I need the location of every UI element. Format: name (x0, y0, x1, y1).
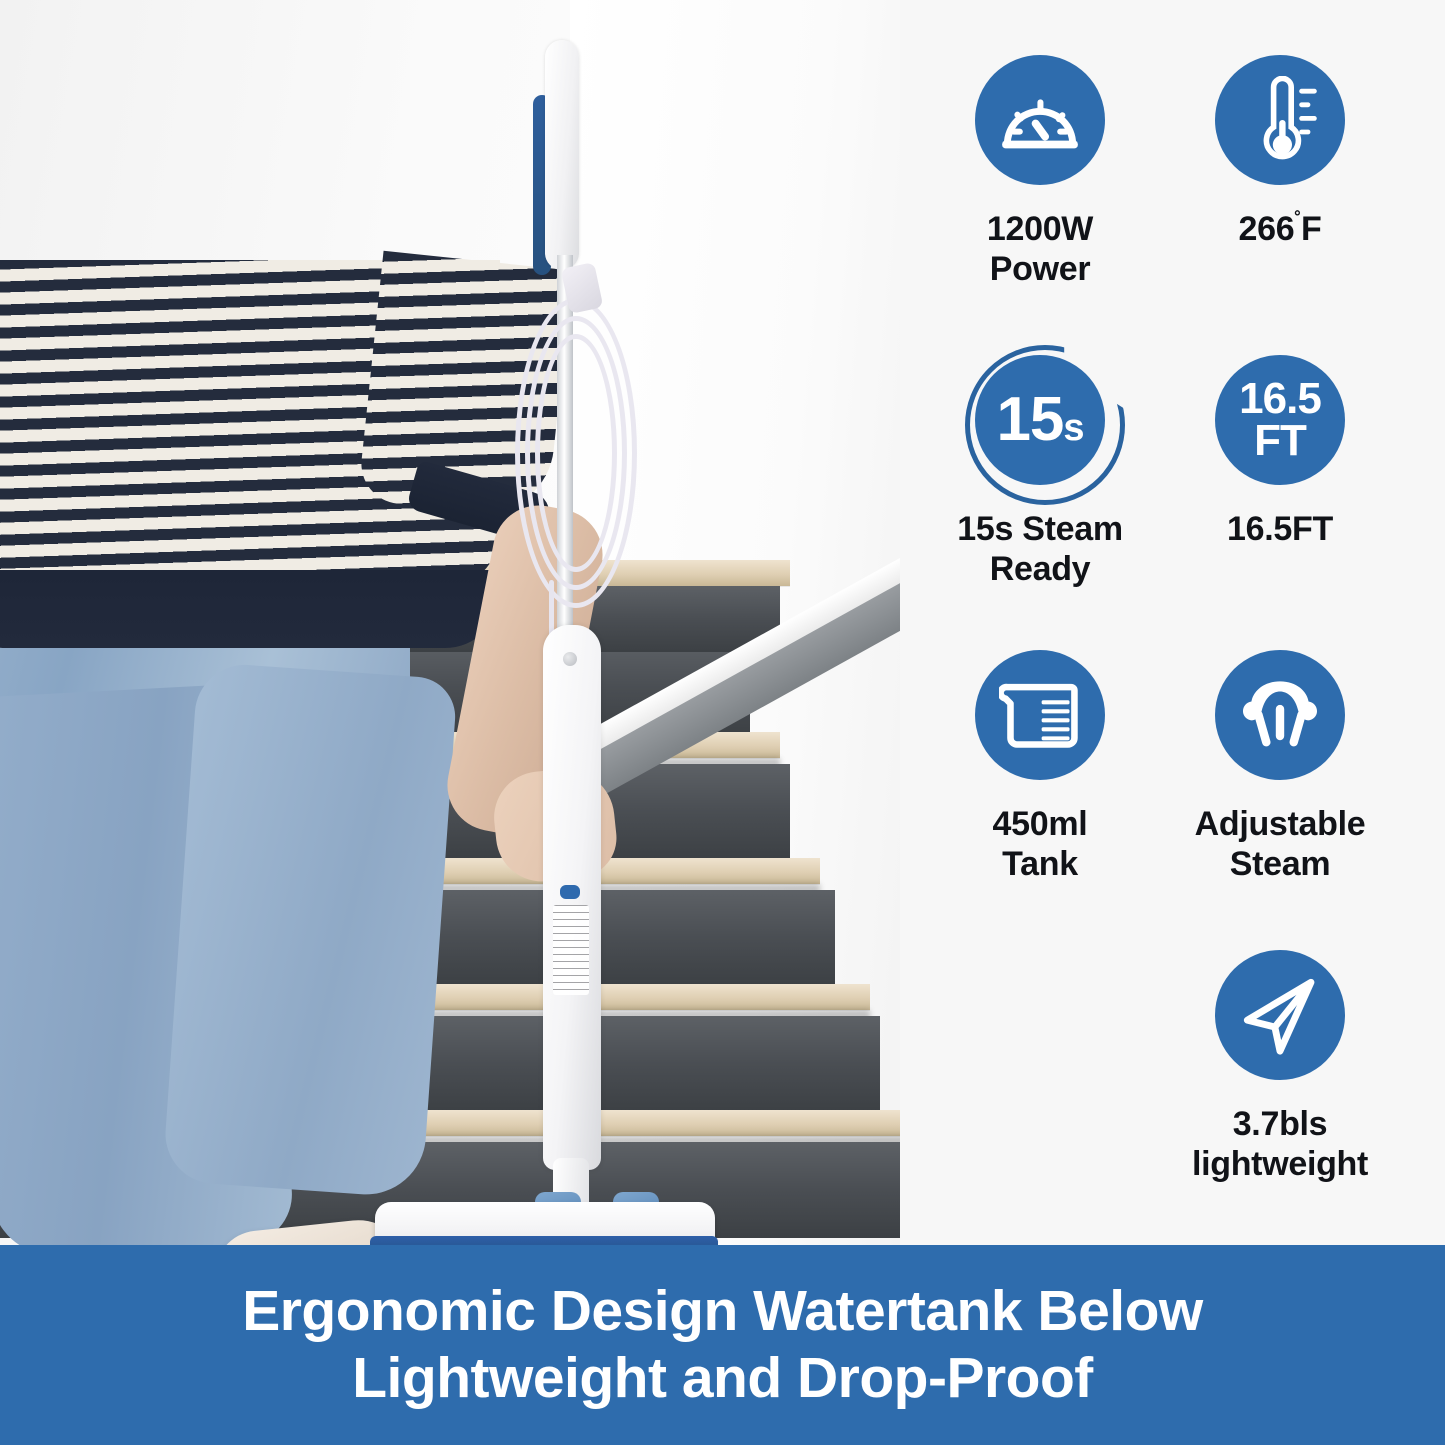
thermometer-icon (1205, 45, 1355, 195)
feature-label: Adjustable Steam (1165, 804, 1395, 884)
bottom-banner: Ergonomic Design Watertank Below Lightwe… (0, 1245, 1445, 1445)
feature-cord-length: 16.5 FT 16.5FT (1165, 345, 1395, 549)
timer-icon-text: 15s (996, 391, 1083, 450)
product-feature-page: 1200W Power (0, 0, 1445, 1445)
banner-line-2: Lightweight and Drop-Proof (352, 1345, 1093, 1412)
feature-tank: 450ml Tank (925, 640, 1155, 884)
steam-burst-icon-glyph (1236, 673, 1324, 757)
mop-screw (563, 652, 577, 666)
cord-length-icon: 16.5 FT (1205, 345, 1355, 495)
feature-grid: 1200W Power (900, 0, 1445, 1245)
person (0, 270, 470, 1245)
jeans-right-leg (162, 662, 458, 1199)
feature-label: 3.7bls lightweight (1165, 1104, 1395, 1184)
mop-pad (370, 1236, 718, 1245)
product-lifestyle-photo (0, 0, 900, 1245)
paper-plane-icon-glyph (1237, 972, 1323, 1058)
banner-line-1: Ergonomic Design Watertank Below (242, 1278, 1203, 1345)
feature-label: 16.5FT (1165, 509, 1395, 549)
beaker-icon-glyph (999, 675, 1081, 755)
timer-15s-icon: 15s (965, 345, 1115, 495)
feature-label: 450ml Tank (925, 804, 1155, 884)
thermometer-icon-glyph (1240, 76, 1320, 164)
gauge-icon (965, 45, 1115, 195)
steam-mop (505, 40, 685, 1245)
steam-burst-icon (1205, 640, 1355, 790)
mop-handle (545, 40, 579, 270)
cord-length-icon-text: 16.5 FT (1239, 378, 1321, 462)
feature-temperature: 266˚F (1165, 45, 1395, 249)
feature-steam-ready: 15s 15s Steam Ready (925, 345, 1155, 589)
shirt-hem (0, 570, 500, 648)
paper-plane-icon (1205, 940, 1355, 1090)
mop-steam-button (560, 885, 580, 899)
feature-adjustable-steam: Adjustable Steam (1165, 640, 1395, 884)
feature-weight: 3.7bls lightweight (1165, 940, 1395, 1184)
power-cord-coil (535, 334, 617, 572)
gauge-icon-glyph (997, 77, 1083, 163)
feature-label: 266˚F (1165, 209, 1395, 249)
mop-spec-label (553, 905, 589, 995)
feature-label: 1200W Power (925, 209, 1155, 289)
feature-power: 1200W Power (925, 45, 1155, 289)
beaker-icon (965, 640, 1115, 790)
feature-label: 15s Steam Ready (925, 509, 1155, 589)
